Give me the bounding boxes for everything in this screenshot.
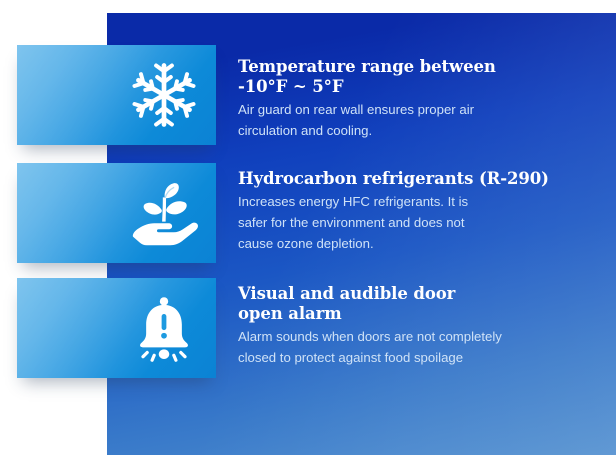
feature-icon-card xyxy=(17,163,216,263)
feature-title: Hydrocarbon refrigerants (R-290) xyxy=(238,169,606,189)
feature-title: Temperature range between -10°F ~ 5°F xyxy=(238,57,606,97)
feature-description: Air guard on rear wall ensures proper ai… xyxy=(238,99,606,141)
feature-icon-card xyxy=(17,278,216,378)
feature-text: Hydrocarbon refrigerants (R-290) Increas… xyxy=(238,169,606,254)
feature-text: Temperature range between -10°F ~ 5°F Ai… xyxy=(238,57,606,141)
feature-description: Alarm sounds when doors are not complete… xyxy=(238,326,606,368)
plant-in-hand-icon xyxy=(122,171,206,255)
alarm-bell-icon xyxy=(122,286,206,370)
feature-title: Visual and audible door open alarm xyxy=(238,284,606,324)
snowflake-icon xyxy=(122,53,206,137)
feature-list-graphic: Temperature range between -10°F ~ 5°F Ai… xyxy=(0,0,616,472)
feature-description: Increases energy HFC refrigerants. It is… xyxy=(238,191,606,254)
feature-icon-card xyxy=(17,45,216,145)
feature-text: Visual and audible door open alarm Alarm… xyxy=(238,284,606,368)
